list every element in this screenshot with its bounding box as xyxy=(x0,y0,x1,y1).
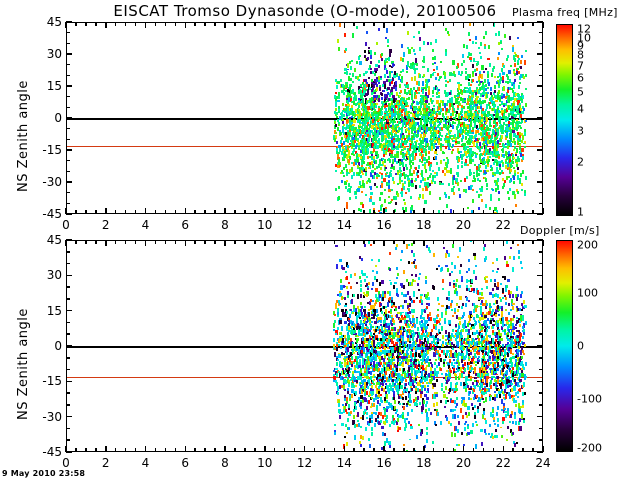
data-point xyxy=(355,98,357,101)
data-point xyxy=(503,86,505,91)
data-point xyxy=(501,48,503,51)
x-tick-mark xyxy=(204,22,206,26)
data-point xyxy=(351,170,353,172)
data-point xyxy=(411,409,413,412)
x-tick-mark xyxy=(363,210,365,214)
data-point xyxy=(499,119,501,123)
y-tick-mark xyxy=(66,149,72,151)
data-point xyxy=(521,183,523,186)
data-point xyxy=(409,394,411,397)
data-point xyxy=(372,282,374,286)
data-point xyxy=(362,436,364,440)
data-point xyxy=(521,55,523,59)
data-point xyxy=(384,159,386,163)
data-point xyxy=(485,122,487,124)
data-point xyxy=(360,426,362,428)
data-point xyxy=(417,327,419,331)
data-point xyxy=(385,371,387,374)
data-point xyxy=(488,82,490,86)
data-point xyxy=(395,282,397,284)
data-point xyxy=(426,306,428,310)
data-point xyxy=(337,312,339,315)
data-point xyxy=(376,408,378,411)
data-point xyxy=(380,208,382,211)
data-point xyxy=(414,156,416,159)
data-point xyxy=(397,430,399,432)
data-point xyxy=(402,58,404,62)
data-point xyxy=(364,306,366,308)
data-point xyxy=(347,418,349,422)
data-point xyxy=(387,39,389,43)
x-tick-mark xyxy=(493,210,495,214)
data-point xyxy=(461,114,463,116)
x-tick-mark xyxy=(383,208,385,214)
data-point xyxy=(358,79,360,81)
data-point xyxy=(404,181,406,184)
data-point xyxy=(472,64,474,68)
data-point xyxy=(360,406,362,409)
data-point xyxy=(378,175,380,177)
data-point xyxy=(350,411,352,414)
data-point xyxy=(366,417,368,419)
data-point xyxy=(339,409,341,412)
data-point xyxy=(338,124,340,126)
data-point xyxy=(370,50,372,54)
figure-canvas: EISCAT Tromso Dynasonde (O-mode), 201005… xyxy=(0,0,640,480)
data-point xyxy=(365,167,367,171)
data-point xyxy=(486,183,488,187)
data-point xyxy=(389,293,391,295)
x-tick-mark xyxy=(115,22,117,26)
data-point xyxy=(355,406,357,410)
data-point xyxy=(368,282,370,285)
data-point xyxy=(487,165,489,167)
data-point xyxy=(381,400,383,402)
data-point xyxy=(386,318,388,320)
data-point xyxy=(338,196,340,200)
data-point xyxy=(524,132,526,136)
data-point xyxy=(425,280,427,284)
colorbar-tick-label: 6 xyxy=(577,71,584,84)
y-tick-mark xyxy=(66,117,72,119)
data-point xyxy=(427,95,429,98)
data-point xyxy=(411,274,413,276)
data-point xyxy=(359,74,361,77)
data-point xyxy=(417,134,419,136)
data-point xyxy=(445,146,447,149)
y-tick-mark xyxy=(66,96,70,98)
data-point xyxy=(420,391,422,394)
x-tick-mark xyxy=(194,22,196,26)
data-point xyxy=(423,335,425,337)
data-point xyxy=(487,87,489,89)
data-point xyxy=(381,53,383,57)
data-point xyxy=(524,129,526,131)
data-point xyxy=(415,95,417,99)
data-point xyxy=(399,403,401,405)
x-tick-mark xyxy=(105,22,107,28)
x-tick-label: 8 xyxy=(221,218,229,232)
data-point xyxy=(347,295,349,298)
x-tick-mark xyxy=(473,22,475,26)
colorbar-plasma xyxy=(556,24,573,216)
x-tick-label: 4 xyxy=(142,218,150,232)
data-point xyxy=(444,72,446,76)
y-tick-mark xyxy=(66,53,72,55)
data-point xyxy=(393,359,395,361)
data-point xyxy=(369,209,371,213)
data-point xyxy=(418,81,420,85)
data-point xyxy=(417,283,419,286)
data-point xyxy=(364,244,366,247)
data-point xyxy=(520,66,522,69)
data-point xyxy=(338,47,340,51)
data-point xyxy=(335,333,337,336)
data-point xyxy=(479,170,481,172)
data-point xyxy=(384,169,386,171)
data-point xyxy=(452,125,454,129)
data-point xyxy=(387,302,389,306)
data-point xyxy=(340,79,342,82)
data-point xyxy=(426,417,428,421)
x-tick-mark xyxy=(314,210,316,214)
data-point xyxy=(413,170,415,173)
data-point xyxy=(336,141,338,144)
data-point xyxy=(415,185,417,189)
data-point xyxy=(457,165,459,169)
data-point xyxy=(370,371,372,375)
data-point xyxy=(348,427,350,430)
data-point xyxy=(430,164,432,168)
data-point xyxy=(381,111,383,115)
data-point xyxy=(379,212,381,214)
x-tick-mark xyxy=(224,208,226,214)
data-point xyxy=(514,194,516,198)
data-point xyxy=(522,95,524,99)
x-tick-mark xyxy=(383,22,385,28)
data-point xyxy=(523,108,525,111)
data-point xyxy=(436,146,438,149)
data-point xyxy=(488,159,490,163)
data-point xyxy=(336,85,338,89)
data-point xyxy=(480,194,482,196)
data-point xyxy=(466,45,468,49)
x-tick-mark xyxy=(85,210,87,214)
data-point xyxy=(338,95,340,98)
data-point xyxy=(422,382,424,385)
data-point xyxy=(426,439,428,443)
data-point xyxy=(393,64,395,67)
data-point xyxy=(440,160,442,164)
data-point xyxy=(335,245,337,247)
data-point xyxy=(438,167,440,171)
data-point xyxy=(429,312,431,316)
data-point xyxy=(343,124,345,126)
data-point xyxy=(525,120,527,122)
data-point xyxy=(428,151,430,153)
data-point xyxy=(345,48,347,52)
data-point xyxy=(338,92,340,95)
x-tick-mark xyxy=(353,210,355,214)
data-point xyxy=(385,209,387,212)
data-point xyxy=(381,183,383,188)
data-point xyxy=(423,41,425,45)
data-point xyxy=(370,192,372,195)
data-point xyxy=(477,61,479,65)
data-point xyxy=(504,34,506,38)
data-point xyxy=(424,356,426,358)
y-tick-label: 45 xyxy=(2,15,62,29)
data-point xyxy=(500,138,502,142)
data-point xyxy=(348,282,350,285)
data-point xyxy=(403,406,405,410)
data-point xyxy=(353,119,355,123)
data-point xyxy=(421,412,423,414)
y-tick-mark xyxy=(539,171,543,173)
data-point xyxy=(452,144,454,147)
data-point xyxy=(426,427,428,429)
data-point xyxy=(355,196,357,200)
y-tick-mark xyxy=(66,85,72,87)
x-tick-mark xyxy=(542,22,544,28)
data-point xyxy=(368,312,370,316)
data-point xyxy=(461,108,463,112)
data-point xyxy=(421,406,423,409)
data-point xyxy=(463,106,465,109)
x-tick-mark xyxy=(344,208,346,214)
data-point xyxy=(362,415,364,419)
data-point xyxy=(395,196,397,199)
data-point xyxy=(425,153,427,156)
data-point xyxy=(411,77,413,81)
data-point xyxy=(444,173,446,176)
x-tick-mark xyxy=(532,22,534,26)
plot-area-doppler[interactable] xyxy=(66,240,543,452)
data-point xyxy=(347,265,349,269)
data-point xyxy=(356,26,358,29)
data-point xyxy=(380,192,382,195)
data-point xyxy=(447,159,449,163)
data-point xyxy=(366,294,368,296)
data-point xyxy=(524,60,526,65)
y-tick-mark xyxy=(537,53,543,55)
data-point xyxy=(398,427,400,430)
data-point xyxy=(503,65,505,68)
data-point xyxy=(391,71,393,73)
data-point xyxy=(512,47,514,51)
data-point xyxy=(381,204,383,207)
data-point xyxy=(423,74,425,77)
data-point xyxy=(368,140,370,142)
y-tick-mark xyxy=(539,43,543,45)
data-point xyxy=(375,68,377,71)
data-point xyxy=(381,164,383,166)
y-tick-mark xyxy=(539,75,543,77)
data-point xyxy=(514,58,516,62)
data-point xyxy=(400,385,402,389)
x-tick-mark xyxy=(95,22,97,26)
x-tick-mark xyxy=(483,22,485,26)
data-point xyxy=(508,197,510,201)
data-point xyxy=(435,156,437,160)
data-point xyxy=(347,347,349,351)
y-tick-mark xyxy=(539,64,543,66)
x-tick-mark xyxy=(433,22,435,26)
data-point xyxy=(379,197,381,202)
data-point xyxy=(498,156,500,159)
data-point xyxy=(463,60,465,63)
colorbar-tick-label: 3 xyxy=(577,125,584,138)
data-point xyxy=(356,282,358,284)
data-point xyxy=(393,166,395,170)
data-point xyxy=(525,74,527,77)
data-point xyxy=(343,353,345,355)
data-point xyxy=(370,196,372,199)
x-tick-mark xyxy=(324,210,326,214)
plot-area-plasma[interactable] xyxy=(66,22,543,214)
data-point xyxy=(345,271,347,274)
data-point xyxy=(442,144,444,147)
data-point xyxy=(418,289,420,291)
data-point xyxy=(346,286,348,289)
data-point xyxy=(361,258,363,261)
y-tick-mark xyxy=(537,117,543,119)
data-point xyxy=(361,191,363,193)
data-point xyxy=(479,149,481,152)
data-point xyxy=(360,395,362,399)
data-point xyxy=(416,435,418,439)
data-point xyxy=(357,188,359,192)
data-point xyxy=(475,134,477,136)
x-tick-mark xyxy=(85,22,87,26)
y-tick-mark xyxy=(539,192,543,194)
y-tick-mark xyxy=(66,43,70,45)
data-point xyxy=(376,405,378,407)
data-point xyxy=(506,136,508,138)
y-tick-mark xyxy=(537,149,543,151)
data-point xyxy=(403,199,405,202)
x-tick-label: 16 xyxy=(376,218,391,232)
data-point xyxy=(512,161,514,164)
x-tick-mark xyxy=(522,22,524,26)
data-point xyxy=(435,39,437,43)
x-tick-mark xyxy=(165,210,167,214)
data-point xyxy=(416,400,418,403)
x-tick-mark xyxy=(512,22,514,26)
data-point xyxy=(410,167,412,169)
data-point xyxy=(426,401,428,405)
x-tick-mark xyxy=(433,210,435,214)
data-point xyxy=(350,368,352,371)
data-point xyxy=(403,167,405,171)
data-point xyxy=(418,31,420,35)
data-point xyxy=(460,180,462,182)
data-point xyxy=(479,180,481,182)
y-tick-label: 0 xyxy=(2,111,62,125)
data-point xyxy=(450,130,452,132)
data-point xyxy=(491,134,493,139)
data-point xyxy=(521,111,523,114)
data-point xyxy=(428,317,430,321)
data-point xyxy=(448,109,450,113)
data-point xyxy=(469,74,471,78)
data-point xyxy=(361,306,363,309)
x-tick-mark xyxy=(65,208,67,214)
data-point xyxy=(334,314,336,316)
x-tick-mark xyxy=(244,210,246,214)
data-point xyxy=(435,77,437,80)
data-point xyxy=(488,45,490,49)
data-point xyxy=(390,312,392,314)
data-point xyxy=(461,156,463,160)
data-point xyxy=(481,199,483,202)
data-point xyxy=(402,397,404,400)
data-point xyxy=(376,42,378,45)
colorbar-tick-label: 4 xyxy=(577,102,584,115)
data-point xyxy=(474,178,476,183)
data-point xyxy=(430,412,432,416)
data-point xyxy=(374,92,376,94)
data-point xyxy=(498,31,500,36)
data-point xyxy=(427,385,429,388)
data-point xyxy=(402,305,404,308)
data-point xyxy=(359,61,361,65)
data-point xyxy=(401,44,403,48)
data-point xyxy=(411,250,413,252)
data-point xyxy=(514,63,516,67)
data-point xyxy=(367,288,369,290)
data-point xyxy=(434,62,436,64)
x-tick-mark xyxy=(175,210,177,214)
data-point xyxy=(415,352,417,356)
x-tick-mark xyxy=(155,210,157,214)
data-point xyxy=(502,72,504,76)
data-point xyxy=(497,178,499,181)
data-point xyxy=(343,159,345,161)
data-point xyxy=(521,100,523,103)
colorbar-tick-label: 1 xyxy=(577,206,584,219)
data-point xyxy=(366,276,368,278)
data-point xyxy=(520,60,522,64)
data-point xyxy=(430,42,432,45)
page-title: EISCAT Tromso Dynasonde (O-mode), 201005… xyxy=(66,2,544,20)
x-tick-mark xyxy=(234,22,236,26)
y-tick-mark xyxy=(66,160,70,162)
x-tick-mark xyxy=(522,210,524,214)
data-point xyxy=(418,92,420,94)
plot-panel-doppler xyxy=(66,240,543,452)
data-point xyxy=(445,84,447,87)
data-point xyxy=(377,314,379,316)
data-point xyxy=(413,309,415,313)
x-tick-mark xyxy=(254,210,256,214)
data-point xyxy=(357,420,359,422)
data-point xyxy=(461,138,463,142)
data-point xyxy=(465,68,467,70)
data-point xyxy=(478,207,480,210)
data-point xyxy=(368,438,370,441)
data-point xyxy=(349,73,351,75)
data-point xyxy=(434,56,436,60)
data-point xyxy=(353,294,355,297)
data-point xyxy=(510,65,512,67)
data-point xyxy=(344,33,346,37)
data-point xyxy=(346,432,348,434)
data-point xyxy=(403,285,405,290)
data-point xyxy=(498,191,500,194)
data-point xyxy=(427,42,429,45)
data-point xyxy=(371,432,373,436)
